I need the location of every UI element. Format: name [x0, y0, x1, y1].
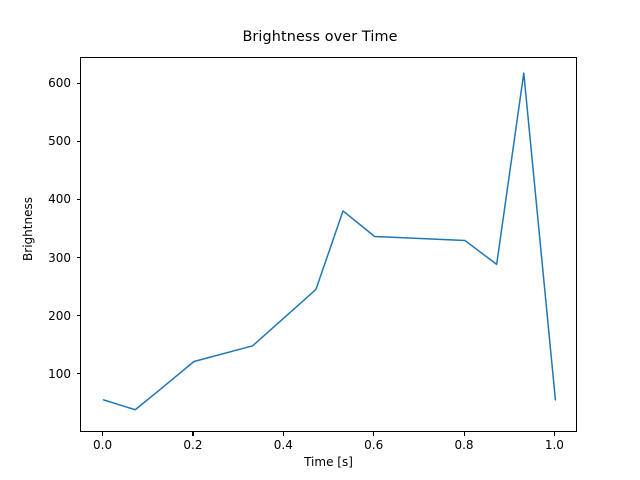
data-series-line: [81, 58, 578, 433]
y-tick-label: 600: [0, 76, 71, 90]
x-tick-label: 0.6: [364, 438, 383, 452]
chart-figure: Brightness over Time Brightness Time [s]…: [0, 0, 640, 480]
y-tick-label: 500: [0, 134, 71, 148]
x-tick-label: 0.2: [183, 438, 202, 452]
x-tick-label: 0.4: [274, 438, 293, 452]
y-tick-label: 400: [0, 192, 71, 206]
y-axis-label: Brightness: [21, 129, 35, 329]
y-tick-label: 300: [0, 251, 71, 265]
x-tick-label: 0.8: [454, 438, 473, 452]
x-tick-label: 0.0: [93, 438, 112, 452]
plot-area: [80, 57, 577, 432]
chart-title: Brightness over Time: [0, 29, 640, 45]
x-tick-label: 1.0: [545, 438, 564, 452]
y-tick-label: 200: [0, 309, 71, 323]
x-axis-label: Time [s]: [80, 455, 577, 469]
y-tick-label: 100: [0, 367, 71, 381]
series-polyline-brightness: [104, 73, 556, 410]
